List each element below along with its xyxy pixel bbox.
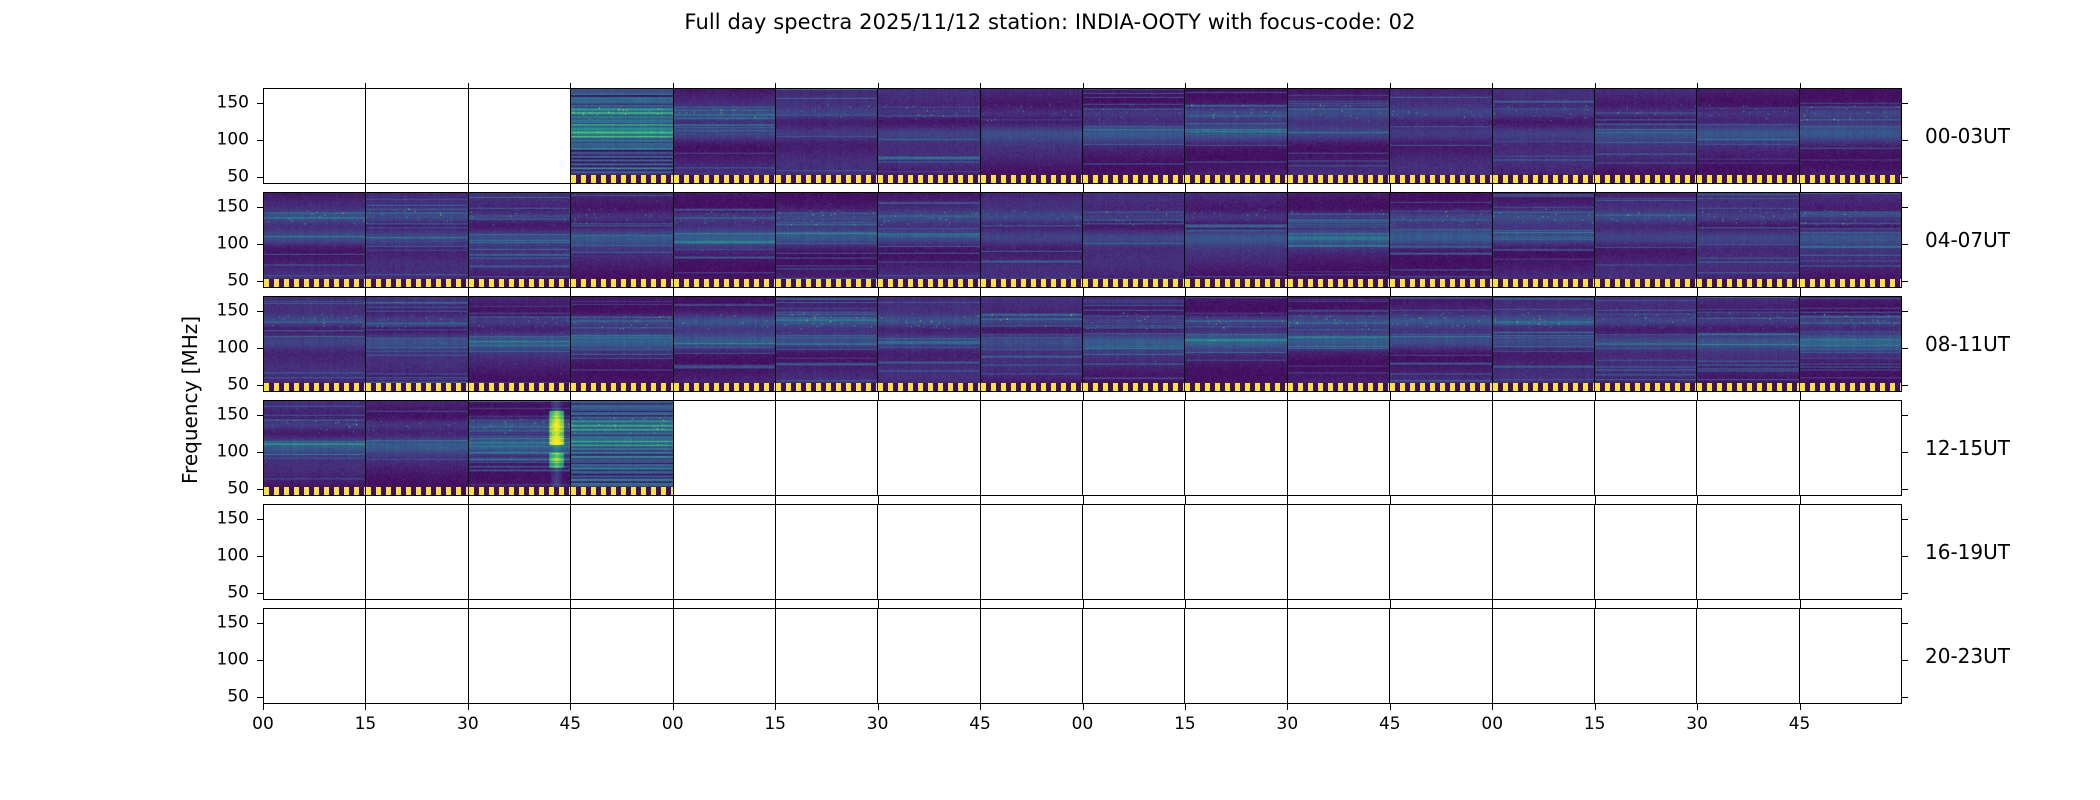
panel-spectrogram bbox=[570, 297, 672, 391]
panel-spectrogram bbox=[877, 193, 979, 287]
x-tick-mark-top bbox=[775, 83, 776, 88]
panel-spectrogram bbox=[1389, 193, 1491, 287]
y-tick-label: 50 bbox=[227, 480, 249, 497]
data-flag-strip bbox=[878, 279, 979, 287]
x-tick-mark-top bbox=[468, 603, 469, 608]
x-tick-mark-top bbox=[1083, 603, 1084, 608]
y-tick-label: 50 bbox=[227, 376, 249, 393]
data-flag-strip bbox=[1595, 383, 1696, 391]
x-tick-mark-top bbox=[1185, 83, 1186, 88]
x-tick-mark-top bbox=[1492, 83, 1493, 88]
x-tick-mark-top bbox=[1390, 395, 1391, 400]
data-flag-strip bbox=[571, 175, 672, 183]
spectrogram-image bbox=[1595, 193, 1696, 287]
spectrogram-image bbox=[878, 89, 979, 183]
data-flag-strip bbox=[1390, 175, 1491, 183]
y-tick-mark-right bbox=[1902, 623, 1908, 624]
panel-spectrogram bbox=[1287, 89, 1389, 183]
panel-empty bbox=[365, 609, 467, 703]
x-tick-mark-top bbox=[1595, 499, 1596, 504]
panel-spectrogram bbox=[775, 89, 877, 183]
y-tick-mark-right bbox=[1902, 519, 1908, 520]
panel-spectrogram bbox=[468, 297, 570, 391]
x-axis-tick-label: 00 bbox=[662, 714, 684, 734]
x-tick-mark-top bbox=[570, 395, 571, 400]
spectrogram-image bbox=[1185, 193, 1286, 287]
row-label-16-19ut: 16-19UT bbox=[1925, 540, 2010, 564]
x-axis-tick-mark bbox=[1185, 704, 1186, 710]
data-flag-strip bbox=[366, 487, 467, 495]
spectrogram-image bbox=[981, 193, 1082, 287]
spectrogram-image bbox=[1697, 297, 1798, 391]
x-tick-mark-top bbox=[1697, 395, 1698, 400]
data-flag-strip bbox=[981, 175, 1082, 183]
spectrogram-image bbox=[264, 193, 365, 287]
panel-spectrogram bbox=[264, 401, 365, 495]
x-tick-mark-top bbox=[980, 603, 981, 608]
data-flag-strip bbox=[878, 383, 979, 391]
spectrogram-image bbox=[674, 297, 775, 391]
x-tick-mark-top bbox=[980, 83, 981, 88]
panel-empty bbox=[264, 89, 365, 183]
x-tick-mark-top bbox=[878, 83, 879, 88]
spectrogram-image bbox=[1185, 297, 1286, 391]
x-tick-mark-top bbox=[1390, 499, 1391, 504]
panel-empty bbox=[1696, 401, 1798, 495]
panel-empty bbox=[980, 401, 1082, 495]
data-flag-strip bbox=[264, 279, 365, 287]
panel-spectrogram bbox=[1799, 193, 1901, 287]
x-axis-tick-label: 00 bbox=[1072, 714, 1094, 734]
x-tick-mark-top bbox=[468, 291, 469, 296]
spectrogram-image bbox=[469, 297, 570, 391]
y-tick-mark-right bbox=[1902, 281, 1908, 282]
data-flag-strip bbox=[1390, 279, 1491, 287]
data-flag-strip bbox=[776, 383, 877, 391]
panel-empty bbox=[877, 401, 979, 495]
y-tick-label: 150 bbox=[217, 406, 249, 423]
x-tick-mark-top bbox=[1185, 603, 1186, 608]
x-tick-mark-top bbox=[1083, 83, 1084, 88]
y-tick-mark-right bbox=[1902, 697, 1908, 698]
x-axis-tick-label: 00 bbox=[1481, 714, 1503, 734]
data-flag-strip bbox=[674, 279, 775, 287]
x-tick-mark-top bbox=[570, 603, 571, 608]
panel-spectrogram bbox=[673, 297, 775, 391]
panel-spectrogram bbox=[1184, 193, 1286, 287]
data-flag-strip bbox=[1697, 279, 1798, 287]
row-label-12-15ut: 12-15UT bbox=[1925, 436, 2010, 460]
panel-empty bbox=[1287, 609, 1389, 703]
data-flag-strip bbox=[674, 383, 775, 391]
panel-empty bbox=[1184, 401, 1286, 495]
x-axis-tick-mark bbox=[1800, 704, 1801, 710]
spectrogram-image bbox=[366, 193, 467, 287]
data-flag-strip bbox=[1800, 175, 1901, 183]
spectrogram-image bbox=[366, 401, 467, 495]
panel-empty bbox=[673, 401, 775, 495]
data-flag-strip bbox=[1697, 383, 1798, 391]
panel-empty bbox=[877, 505, 979, 599]
x-tick-mark-top bbox=[1595, 291, 1596, 296]
panel-spectrogram bbox=[980, 297, 1082, 391]
panel-empty bbox=[775, 609, 877, 703]
y-tick-mark bbox=[257, 177, 263, 178]
x-axis-tick-label: 30 bbox=[1277, 714, 1299, 734]
y-tick-label: 50 bbox=[227, 168, 249, 185]
panel-spectrogram bbox=[365, 401, 467, 495]
panel-spectrogram bbox=[1287, 193, 1389, 287]
panel-spectrogram bbox=[673, 193, 775, 287]
data-flag-strip bbox=[776, 175, 877, 183]
x-tick-mark-top bbox=[673, 603, 674, 608]
x-tick-mark-top bbox=[1800, 499, 1801, 504]
x-tick-mark-top bbox=[468, 395, 469, 400]
y-tick-label: 100 bbox=[217, 339, 249, 356]
x-tick-mark-top bbox=[1185, 395, 1186, 400]
data-flag-strip bbox=[1288, 383, 1389, 391]
spectrogram-image bbox=[571, 401, 672, 495]
x-tick-mark-top bbox=[570, 187, 571, 192]
y-tick-mark-right bbox=[1902, 556, 1908, 557]
spectrogram-image bbox=[571, 193, 672, 287]
row-label-00-03ut: 00-03UT bbox=[1925, 124, 2010, 148]
x-tick-mark-top bbox=[1492, 187, 1493, 192]
panel-spectrogram bbox=[1696, 89, 1798, 183]
panel-spectrogram bbox=[365, 193, 467, 287]
panel-empty bbox=[1492, 401, 1594, 495]
spectrogram-row bbox=[263, 88, 1902, 184]
x-tick-mark-top bbox=[1492, 291, 1493, 296]
panel-empty bbox=[1492, 505, 1594, 599]
x-axis-tick-mark bbox=[775, 704, 776, 710]
panel-spectrogram bbox=[980, 89, 1082, 183]
data-flag-strip bbox=[366, 383, 467, 391]
y-tick-mark bbox=[257, 489, 263, 490]
data-flag-strip bbox=[571, 279, 672, 287]
x-tick-mark-top bbox=[1595, 83, 1596, 88]
y-tick-mark-right bbox=[1902, 385, 1908, 386]
spectrogram-image bbox=[366, 297, 467, 391]
data-flag-strip bbox=[981, 279, 1082, 287]
x-axis-tick-label: 30 bbox=[457, 714, 479, 734]
y-tick-mark-right bbox=[1902, 103, 1908, 104]
panel-empty bbox=[1799, 401, 1901, 495]
x-tick-mark-top bbox=[1697, 603, 1698, 608]
data-flag-strip bbox=[469, 383, 570, 391]
data-flag-strip bbox=[1288, 175, 1389, 183]
spectrogram-image bbox=[571, 89, 672, 183]
x-axis-tick-label: 15 bbox=[355, 714, 377, 734]
x-tick-mark-top bbox=[365, 291, 366, 296]
x-tick-mark-top bbox=[1287, 83, 1288, 88]
y-tick-mark bbox=[257, 385, 263, 386]
y-tick-mark bbox=[257, 281, 263, 282]
data-flag-strip bbox=[1493, 279, 1594, 287]
panel-empty bbox=[365, 505, 467, 599]
y-tick-mark bbox=[257, 311, 263, 312]
panel-empty bbox=[1799, 505, 1901, 599]
y-tick-label: 50 bbox=[227, 688, 249, 705]
panel-empty bbox=[1082, 609, 1184, 703]
panel-spectrogram bbox=[877, 89, 979, 183]
panel-empty bbox=[1184, 609, 1286, 703]
panel-spectrogram bbox=[264, 297, 365, 391]
x-axis-tick-label: 30 bbox=[867, 714, 889, 734]
panel-spectrogram bbox=[1492, 297, 1594, 391]
panel-empty bbox=[468, 609, 570, 703]
y-tick-mark bbox=[257, 140, 263, 141]
row-label-04-07ut: 04-07UT bbox=[1925, 228, 2010, 252]
x-tick-mark-top bbox=[775, 187, 776, 192]
panel-spectrogram bbox=[775, 193, 877, 287]
panel-spectrogram bbox=[468, 193, 570, 287]
x-tick-mark-top bbox=[1492, 603, 1493, 608]
data-flag-strip bbox=[1083, 279, 1184, 287]
x-axis-tick-label: 15 bbox=[1174, 714, 1196, 734]
x-axis-tick-mark bbox=[468, 704, 469, 710]
x-tick-mark-top bbox=[1287, 499, 1288, 504]
spectrogram-image bbox=[1697, 89, 1798, 183]
spectrogram-image bbox=[1697, 193, 1798, 287]
panel-spectrogram bbox=[1389, 297, 1491, 391]
x-axis-tick-mark bbox=[263, 704, 264, 710]
panel-spectrogram bbox=[1492, 89, 1594, 183]
y-tick-mark-right bbox=[1902, 593, 1908, 594]
y-tick-label: 100 bbox=[217, 131, 249, 148]
panel-spectrogram bbox=[1492, 193, 1594, 287]
data-flag-strip bbox=[776, 279, 877, 287]
panel-empty bbox=[1082, 505, 1184, 599]
x-axis-tick-mark bbox=[365, 704, 366, 710]
panel-spectrogram bbox=[1184, 89, 1286, 183]
x-tick-mark-top bbox=[1287, 291, 1288, 296]
x-tick-mark-top bbox=[570, 499, 571, 504]
x-tick-mark-top bbox=[1390, 187, 1391, 192]
panel-empty bbox=[1696, 505, 1798, 599]
x-tick-mark-top bbox=[1800, 603, 1801, 608]
panel-spectrogram bbox=[1799, 297, 1901, 391]
panel-strip bbox=[264, 297, 1901, 391]
panel-empty bbox=[1184, 505, 1286, 599]
panel-spectrogram bbox=[1696, 297, 1798, 391]
y-tick-mark bbox=[257, 244, 263, 245]
y-tick-label: 50 bbox=[227, 272, 249, 289]
x-tick-mark-top bbox=[570, 291, 571, 296]
x-tick-mark-top bbox=[1390, 291, 1391, 296]
spectrogram-image bbox=[1185, 89, 1286, 183]
x-tick-mark-top bbox=[1185, 187, 1186, 192]
y-tick-label: 150 bbox=[217, 302, 249, 319]
spectrogram-image bbox=[1800, 89, 1901, 183]
x-tick-mark-top bbox=[1800, 291, 1801, 296]
spectrogram-image bbox=[981, 297, 1082, 391]
spectrogram-image bbox=[1288, 297, 1389, 391]
spectrogram-row bbox=[263, 192, 1902, 288]
y-tick-label: 150 bbox=[217, 510, 249, 527]
y-tick-label: 100 bbox=[217, 651, 249, 668]
panel-spectrogram bbox=[570, 193, 672, 287]
y-tick-mark-right bbox=[1902, 311, 1908, 312]
panel-spectrogram bbox=[1082, 297, 1184, 391]
x-tick-mark-top bbox=[878, 603, 879, 608]
panel-spectrogram bbox=[365, 297, 467, 391]
spectrogram-image bbox=[1390, 297, 1491, 391]
x-tick-mark-top bbox=[1287, 395, 1288, 400]
x-tick-mark-top bbox=[468, 83, 469, 88]
spectrogram-image bbox=[1390, 193, 1491, 287]
y-tick-mark bbox=[257, 415, 263, 416]
x-tick-mark-top bbox=[1595, 395, 1596, 400]
x-axis-tick-label: 30 bbox=[1686, 714, 1708, 734]
y-tick-mark bbox=[257, 103, 263, 104]
panel-empty bbox=[980, 505, 1082, 599]
y-tick-mark-right bbox=[1902, 244, 1908, 245]
panel-spectrogram bbox=[1287, 297, 1389, 391]
panel-strip bbox=[264, 505, 1901, 599]
panel-empty bbox=[1082, 401, 1184, 495]
y-tick-mark bbox=[257, 348, 263, 349]
x-tick-mark-top bbox=[878, 499, 879, 504]
data-flag-strip bbox=[264, 487, 365, 495]
y-tick-mark bbox=[257, 623, 263, 624]
x-tick-mark-top bbox=[1185, 291, 1186, 296]
panel-spectrogram bbox=[1594, 89, 1696, 183]
panel-spectrogram bbox=[264, 193, 365, 287]
x-axis-tick-mark bbox=[1492, 704, 1493, 710]
panel-empty bbox=[1594, 401, 1696, 495]
panel-spectrogram bbox=[468, 401, 570, 495]
x-tick-mark-top bbox=[673, 83, 674, 88]
y-tick-mark-right bbox=[1902, 348, 1908, 349]
panel-empty bbox=[1492, 609, 1594, 703]
y-tick-mark bbox=[257, 556, 263, 557]
x-tick-mark-top bbox=[365, 603, 366, 608]
x-tick-mark-top bbox=[1287, 603, 1288, 608]
panel-strip bbox=[264, 401, 1901, 495]
page-title: Full day spectra 2025/11/12 station: IND… bbox=[0, 10, 2100, 34]
panel-strip bbox=[264, 609, 1901, 703]
x-tick-mark-top bbox=[1492, 499, 1493, 504]
y-tick-label: 150 bbox=[217, 198, 249, 215]
x-axis-tick-label: 45 bbox=[559, 714, 581, 734]
panel-empty bbox=[673, 505, 775, 599]
panel-spectrogram bbox=[1799, 89, 1901, 183]
x-axis-tick-mark bbox=[980, 704, 981, 710]
panel-empty bbox=[264, 609, 365, 703]
spectrogram-image bbox=[776, 297, 877, 391]
panel-empty bbox=[1389, 505, 1491, 599]
y-tick-mark-right bbox=[1902, 660, 1908, 661]
x-axis-tick-mark bbox=[1595, 704, 1596, 710]
panel-spectrogram bbox=[980, 193, 1082, 287]
spectrogram-image bbox=[1493, 89, 1594, 183]
panel-spectrogram bbox=[570, 89, 672, 183]
spectrogram-image bbox=[469, 193, 570, 287]
panel-empty bbox=[1287, 505, 1389, 599]
data-flag-strip bbox=[1595, 175, 1696, 183]
data-flag-strip bbox=[571, 487, 672, 495]
y-tick-mark bbox=[257, 593, 263, 594]
y-tick-mark bbox=[257, 452, 263, 453]
x-axis-tick-label: 45 bbox=[1789, 714, 1811, 734]
x-axis-tick-mark bbox=[1697, 704, 1698, 710]
panel-spectrogram bbox=[1184, 297, 1286, 391]
spectrogram-row bbox=[263, 400, 1902, 496]
panel-spectrogram bbox=[1082, 193, 1184, 287]
x-tick-mark-top bbox=[775, 499, 776, 504]
spectrogram-row bbox=[263, 608, 1902, 704]
panel-empty bbox=[1799, 609, 1901, 703]
data-flag-strip bbox=[469, 279, 570, 287]
y-tick-mark-right bbox=[1902, 452, 1908, 453]
data-flag-strip bbox=[1595, 279, 1696, 287]
panel-spectrogram bbox=[673, 89, 775, 183]
x-axis-tick-mark bbox=[1287, 704, 1288, 710]
spectrogram-image bbox=[264, 297, 365, 391]
x-tick-mark-top bbox=[1185, 499, 1186, 504]
x-axis-tick-label: 00 bbox=[252, 714, 274, 734]
spectrogram-image bbox=[1800, 297, 1901, 391]
data-flag-strip bbox=[1185, 383, 1286, 391]
panel-empty bbox=[1389, 401, 1491, 495]
y-tick-mark-right bbox=[1902, 177, 1908, 178]
row-label-08-11ut: 08-11UT bbox=[1925, 332, 2010, 356]
spectrogram-image bbox=[878, 193, 979, 287]
data-flag-strip bbox=[366, 279, 467, 287]
spectrogram-image bbox=[776, 89, 877, 183]
x-axis-tick-mark bbox=[673, 704, 674, 710]
spectrogram-image bbox=[1083, 193, 1184, 287]
data-flag-strip bbox=[571, 383, 672, 391]
panel-spectrogram bbox=[1389, 89, 1491, 183]
x-tick-mark-top bbox=[570, 83, 571, 88]
x-tick-mark-top bbox=[980, 187, 981, 192]
y-tick-label: 50 bbox=[227, 584, 249, 601]
y-tick-label: 100 bbox=[217, 235, 249, 252]
spectrogram-image bbox=[674, 193, 775, 287]
panel-empty bbox=[775, 505, 877, 599]
x-axis-tick-mark bbox=[570, 704, 571, 710]
spectrogram-image bbox=[1595, 297, 1696, 391]
data-flag-strip bbox=[469, 487, 570, 495]
spectrogram-image bbox=[981, 89, 1082, 183]
row-label-20-23ut: 20-23UT bbox=[1925, 644, 2010, 668]
y-tick-mark bbox=[257, 697, 263, 698]
x-tick-mark-top bbox=[1083, 291, 1084, 296]
data-flag-strip bbox=[1493, 175, 1594, 183]
data-flag-strip bbox=[1185, 175, 1286, 183]
panel-empty bbox=[877, 609, 979, 703]
x-tick-mark-top bbox=[673, 499, 674, 504]
x-tick-mark-top bbox=[775, 603, 776, 608]
panel-spectrogram bbox=[877, 297, 979, 391]
data-flag-strip bbox=[1697, 175, 1798, 183]
x-axis-tick-label: 45 bbox=[969, 714, 991, 734]
spectrogram-image bbox=[1288, 193, 1389, 287]
panel-empty bbox=[1594, 609, 1696, 703]
panel-spectrogram bbox=[1696, 193, 1798, 287]
spectrogram-image bbox=[674, 89, 775, 183]
data-flag-strip bbox=[1800, 279, 1901, 287]
panel-empty bbox=[264, 505, 365, 599]
x-tick-mark-top bbox=[1287, 187, 1288, 192]
x-tick-mark-top bbox=[775, 291, 776, 296]
x-tick-mark-top bbox=[365, 499, 366, 504]
x-tick-mark-top bbox=[1697, 499, 1698, 504]
y-tick-mark bbox=[257, 660, 263, 661]
x-tick-mark-top bbox=[1083, 499, 1084, 504]
